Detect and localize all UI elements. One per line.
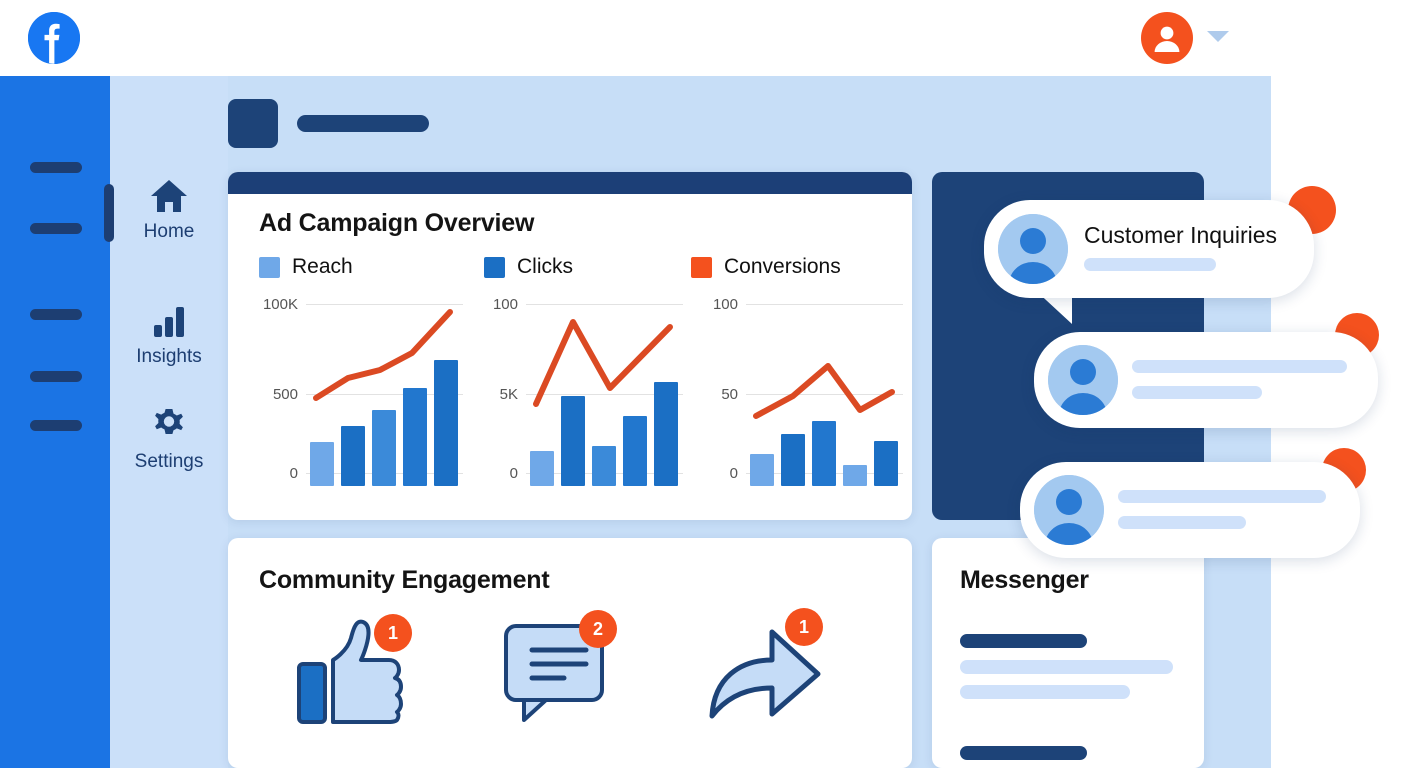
- messenger-placeholder-line: [960, 634, 1087, 648]
- y-tick-label: 0: [470, 465, 518, 482]
- sidebar-item-label: Home: [144, 221, 195, 243]
- bubble-placeholder-line: [1132, 360, 1347, 373]
- messenger-placeholder-line: [960, 746, 1087, 760]
- app-root: Home Insights Settings: [0, 0, 1408, 768]
- nav-column: Home Insights Settings: [110, 76, 228, 768]
- dashboard-avatar-placeholder: [228, 99, 278, 148]
- chevron-down-icon[interactable]: [1207, 31, 1229, 42]
- rail-placeholder: [30, 420, 82, 431]
- y-tick-label: 100K: [250, 296, 298, 313]
- section-title: Messenger: [960, 566, 1089, 595]
- chart-clicks: 100 5K 0: [470, 300, 685, 500]
- home-icon: [149, 178, 189, 214]
- messenger-card: Messenger: [932, 538, 1204, 768]
- y-tick-label: 100: [470, 296, 518, 313]
- charts-row: 100K 500 0 100: [250, 300, 910, 500]
- status-badge: 1: [374, 614, 412, 652]
- legend-item-reach: Reach: [259, 255, 353, 279]
- legend-label: Conversions: [724, 255, 841, 279]
- y-tick-label: 0: [690, 465, 738, 482]
- bubble-placeholder-line: [1084, 258, 1216, 271]
- engagement-like[interactable]: 1: [295, 616, 455, 746]
- bubble-title: Customer Inquiries: [1084, 222, 1277, 249]
- inquiry-bubble-3[interactable]: [1020, 462, 1360, 558]
- bubble-placeholder-line: [1132, 386, 1262, 399]
- legend-item-clicks: Clicks: [484, 255, 573, 279]
- legend-item-conversions: Conversions: [691, 255, 841, 279]
- ad-campaign-card: Ad Campaign Overview Reach Clicks Conver…: [228, 172, 912, 520]
- status-badge: 1: [785, 608, 823, 646]
- messenger-placeholder-line: [960, 660, 1173, 674]
- status-badge: 2: [579, 610, 617, 648]
- y-tick-label: 50: [690, 386, 738, 403]
- engagement-actions: 1 2: [259, 616, 879, 746]
- community-engagement-card: Community Engagement 1: [228, 538, 912, 768]
- rail-placeholder: [30, 371, 82, 382]
- avatar: [1034, 475, 1104, 545]
- sidebar-item-insights[interactable]: Insights: [110, 303, 228, 368]
- messenger-placeholder-line: [960, 685, 1130, 699]
- inquiry-bubble-2[interactable]: [1034, 332, 1378, 428]
- facebook-logo-icon[interactable]: [28, 12, 80, 64]
- sidebar-active-tab-marker[interactable]: [104, 184, 114, 242]
- section-title: Community Engagement: [259, 566, 549, 595]
- legend-label: Reach: [292, 255, 353, 279]
- rail-placeholder: [30, 309, 82, 320]
- inquiry-bubble-1[interactable]: Customer Inquiries: [984, 200, 1314, 298]
- y-tick-label: 0: [250, 465, 298, 482]
- engagement-share[interactable]: 1: [706, 616, 866, 746]
- avatar: [1048, 345, 1118, 415]
- y-tick-label: 100: [690, 296, 738, 313]
- sidebar-item-label: Insights: [136, 346, 201, 368]
- dashboard-title-placeholder: [297, 115, 429, 132]
- avatar: [998, 214, 1068, 284]
- user-avatar-icon[interactable]: [1141, 12, 1193, 64]
- trend-line: [308, 300, 460, 472]
- sidebar-item-settings[interactable]: Settings: [110, 406, 228, 473]
- sidebar-rail: [0, 76, 110, 768]
- gear-icon: [149, 406, 189, 444]
- y-tick-label: 5K: [470, 386, 518, 403]
- sidebar-item-home[interactable]: Home: [110, 178, 228, 243]
- legend-swatch: [691, 257, 712, 278]
- y-tick-label: 500: [250, 386, 298, 403]
- engagement-comment[interactable]: 2: [502, 616, 662, 746]
- trend-line: [748, 300, 900, 472]
- trend-line: [528, 300, 680, 472]
- chart-conversions: 100 50 0: [690, 300, 905, 500]
- chart-legend: Reach Clicks Conversions: [259, 255, 879, 281]
- chart-reach: 100K 500 0: [250, 300, 465, 500]
- legend-swatch: [484, 257, 505, 278]
- rail-placeholder: [30, 162, 82, 173]
- bar-chart-icon: [149, 303, 189, 339]
- sidebar-item-label: Settings: [135, 451, 204, 473]
- bubble-placeholder-line: [1118, 516, 1246, 529]
- bubble-placeholder-line: [1118, 490, 1326, 503]
- rail-placeholder: [30, 223, 82, 234]
- page-title: Ad Campaign Overview: [259, 209, 534, 238]
- top-bar: [0, 0, 1408, 76]
- legend-swatch: [259, 257, 280, 278]
- card-header-bar: [228, 172, 912, 194]
- legend-label: Clicks: [517, 255, 573, 279]
